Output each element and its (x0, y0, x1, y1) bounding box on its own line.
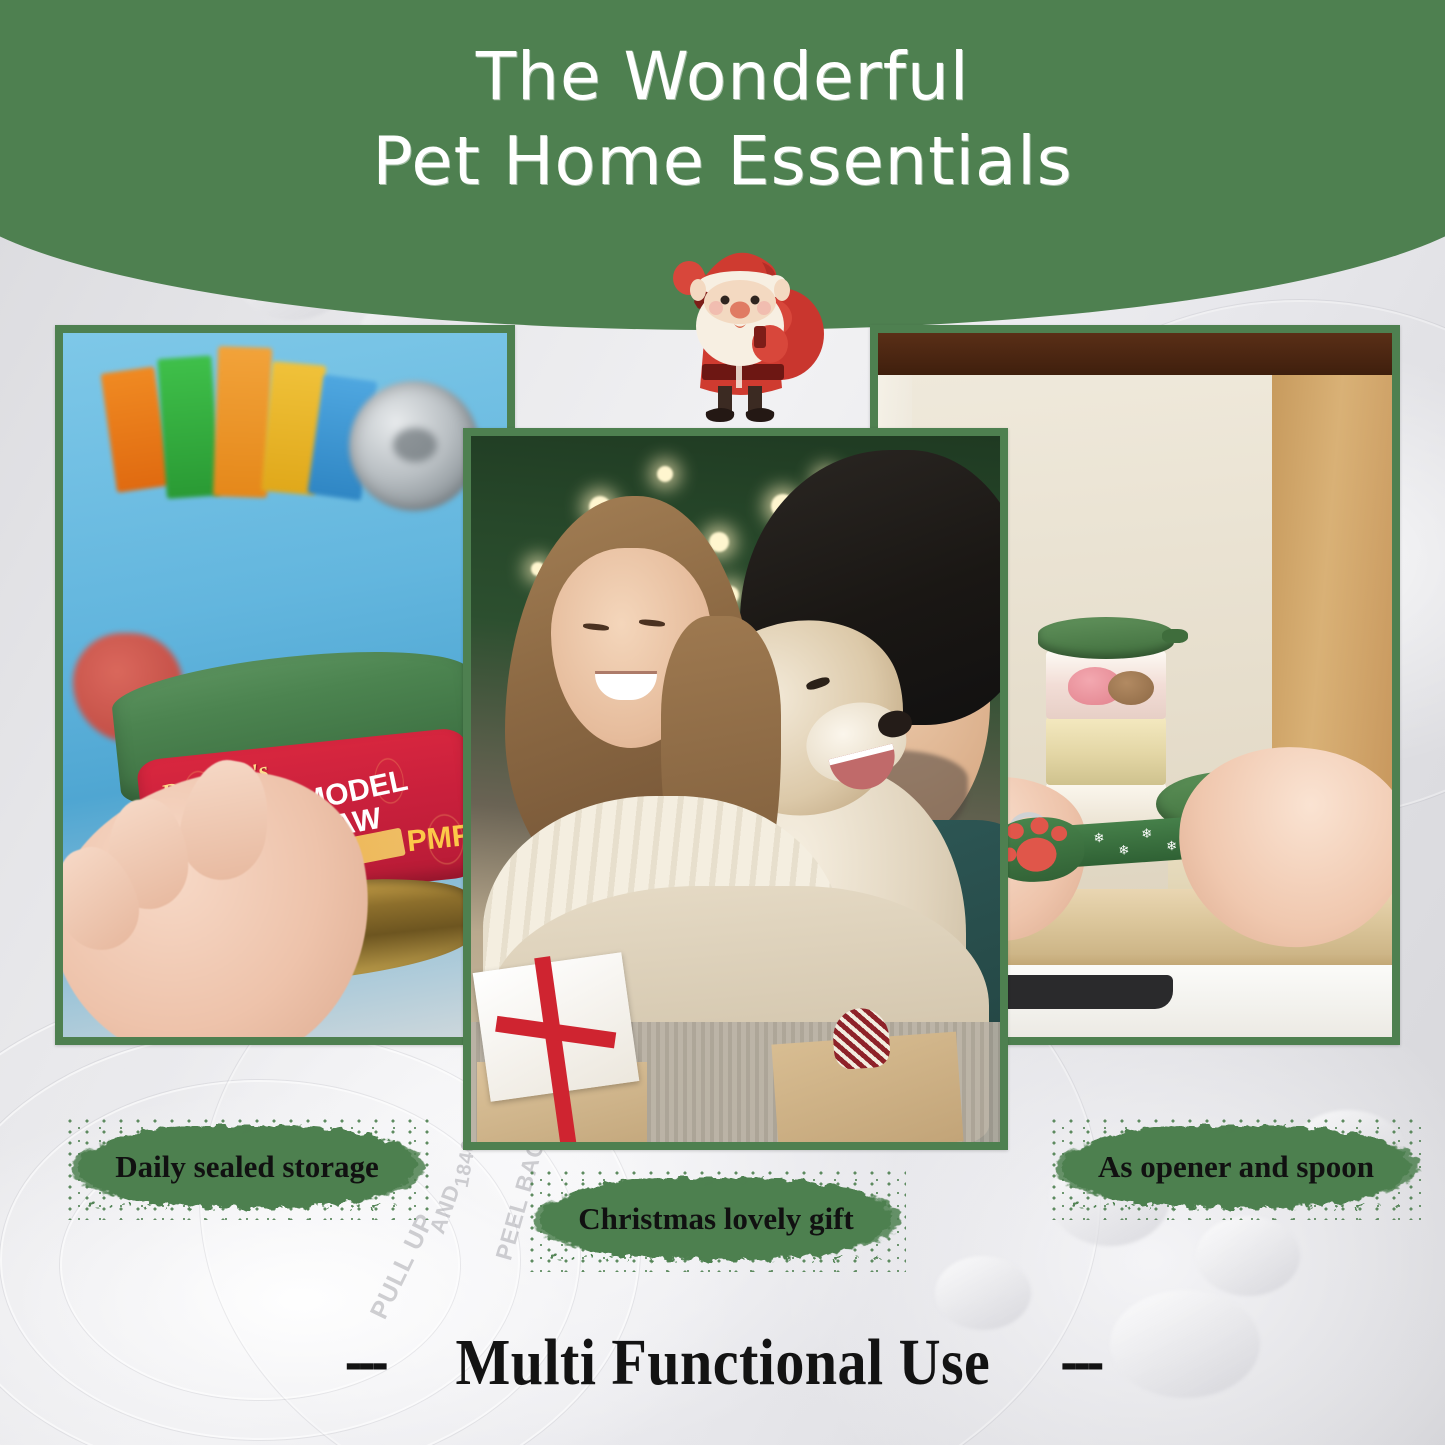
green-silicone-lid-on-stack (1038, 617, 1174, 659)
caption-center: Christmas lovely gift (540, 1178, 892, 1260)
footer-dash-right: --- (1060, 1333, 1100, 1393)
footer-text: Multi Functional Use (455, 1325, 990, 1401)
gift-box-white (473, 952, 640, 1102)
photo-left-image: Doctor L's PMR MODEL RAW PMR (63, 333, 507, 1037)
caption-left-text: Daily sealed storage (115, 1149, 378, 1185)
photo-center-image (471, 436, 1000, 1142)
footer-headline: --- Multi Functional Use --- (0, 1318, 1445, 1408)
caption-left: Daily sealed storage (78, 1126, 416, 1208)
photo-panel-center[interactable] (463, 428, 1008, 1150)
caption-center-text: Christmas lovely gift (578, 1201, 854, 1237)
gift-box-kraft-right (771, 1032, 963, 1142)
footer-dash-left: --- (345, 1333, 385, 1393)
santa-icon (650, 222, 830, 452)
photo-panel-left[interactable]: Doctor L's PMR MODEL RAW PMR (55, 325, 515, 1045)
caption-right-text: As opener and spoon (1098, 1149, 1374, 1185)
caption-right: As opener and spoon (1062, 1126, 1410, 1208)
